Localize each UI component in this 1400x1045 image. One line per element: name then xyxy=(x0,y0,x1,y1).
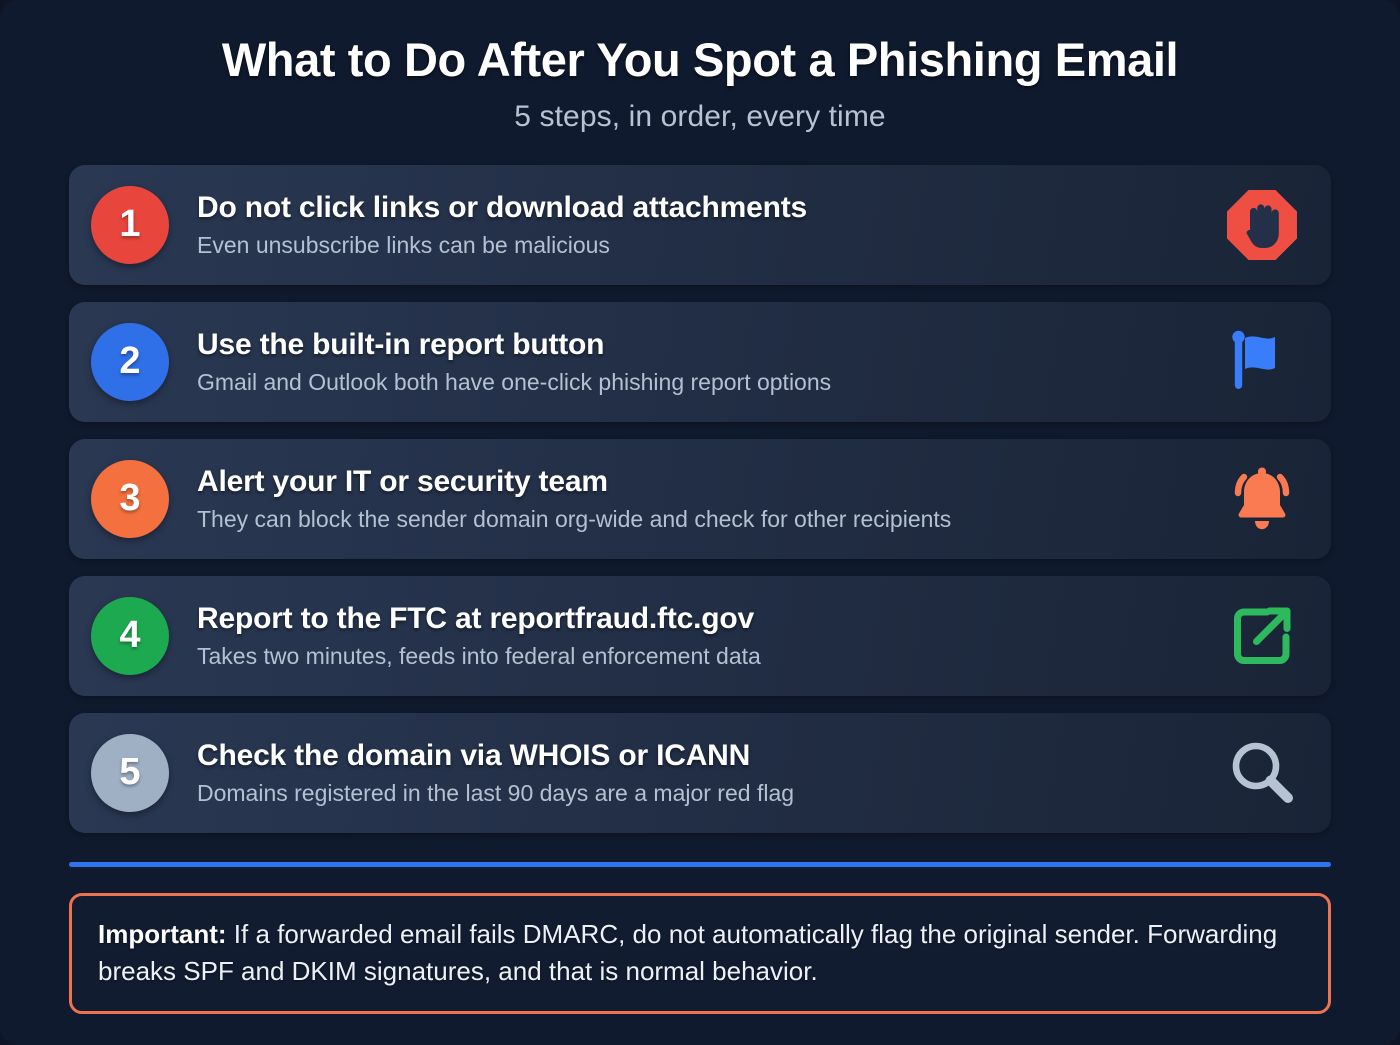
callout-text: Important: If a forwarded email fails DM… xyxy=(98,916,1302,990)
step-title-1: Do not click links or download attachmen… xyxy=(197,190,1203,225)
step-text-block-4: Report to the FTC at reportfraud.ftc.gov… xyxy=(197,601,1219,671)
step-description-1: Even unsubscribe links can be malicious xyxy=(197,232,1203,260)
step-title-3: Alert your IT or security team xyxy=(197,464,1203,499)
step-item-4: 4 Report to the FTC at reportfraud.ftc.g… xyxy=(69,576,1331,696)
step-description-5: Domains registered in the last 90 days a… xyxy=(197,780,1203,808)
step-description-3: They can block the sender domain org-wid… xyxy=(197,506,1203,534)
infographic-page: What to Do After You Spot a Phishing Ema… xyxy=(0,0,1400,1045)
step-text-block-1: Do not click links or download attachmen… xyxy=(197,190,1219,260)
step-description-2: Gmail and Outlook both have one-click ph… xyxy=(197,369,1203,397)
step-number-badge-4: 4 xyxy=(91,597,169,675)
step-item-3: 3 Alert your IT or security team They ca… xyxy=(69,439,1331,559)
header: What to Do After You Spot a Phishing Ema… xyxy=(0,0,1400,134)
step-text-block-5: Check the domain via WHOIS or ICANN Doma… xyxy=(197,738,1219,808)
step-text-block-2: Use the built-in report button Gmail and… xyxy=(197,327,1219,397)
step-text-block-3: Alert your IT or security team They can … xyxy=(197,464,1219,534)
step-description-4: Takes two minutes, feeds into federal en… xyxy=(197,643,1203,671)
stop-hand-icon xyxy=(1219,182,1305,268)
step-number-badge-5: 5 xyxy=(91,734,169,812)
steps-list: 1 Do not click links or download attachm… xyxy=(69,165,1331,833)
step-number-badge-2: 2 xyxy=(91,323,169,401)
magnifier-icon xyxy=(1219,730,1305,816)
page-title: What to Do After You Spot a Phishing Ema… xyxy=(0,34,1400,87)
external-link-icon xyxy=(1219,593,1305,679)
callout-body: If a forwarded email fails DMARC, do not… xyxy=(98,919,1277,986)
flag-icon xyxy=(1219,319,1305,405)
callout-label: Important: xyxy=(98,919,227,949)
page-subtitle: 5 steps, in order, every time xyxy=(0,100,1400,134)
important-callout: Important: If a forwarded email fails DM… xyxy=(69,893,1331,1015)
step-title-5: Check the domain via WHOIS or ICANN xyxy=(197,738,1203,773)
step-item-1: 1 Do not click links or download attachm… xyxy=(69,165,1331,285)
step-item-2: 2 Use the built-in report button Gmail a… xyxy=(69,302,1331,422)
step-title-2: Use the built-in report button xyxy=(197,327,1203,362)
step-number-badge-1: 1 xyxy=(91,186,169,264)
step-number-badge-3: 3 xyxy=(91,460,169,538)
bell-icon xyxy=(1219,456,1305,542)
step-item-5: 5 Check the domain via WHOIS or ICANN Do… xyxy=(69,713,1331,833)
section-divider xyxy=(69,862,1331,867)
step-title-4: Report to the FTC at reportfraud.ftc.gov xyxy=(197,601,1203,636)
